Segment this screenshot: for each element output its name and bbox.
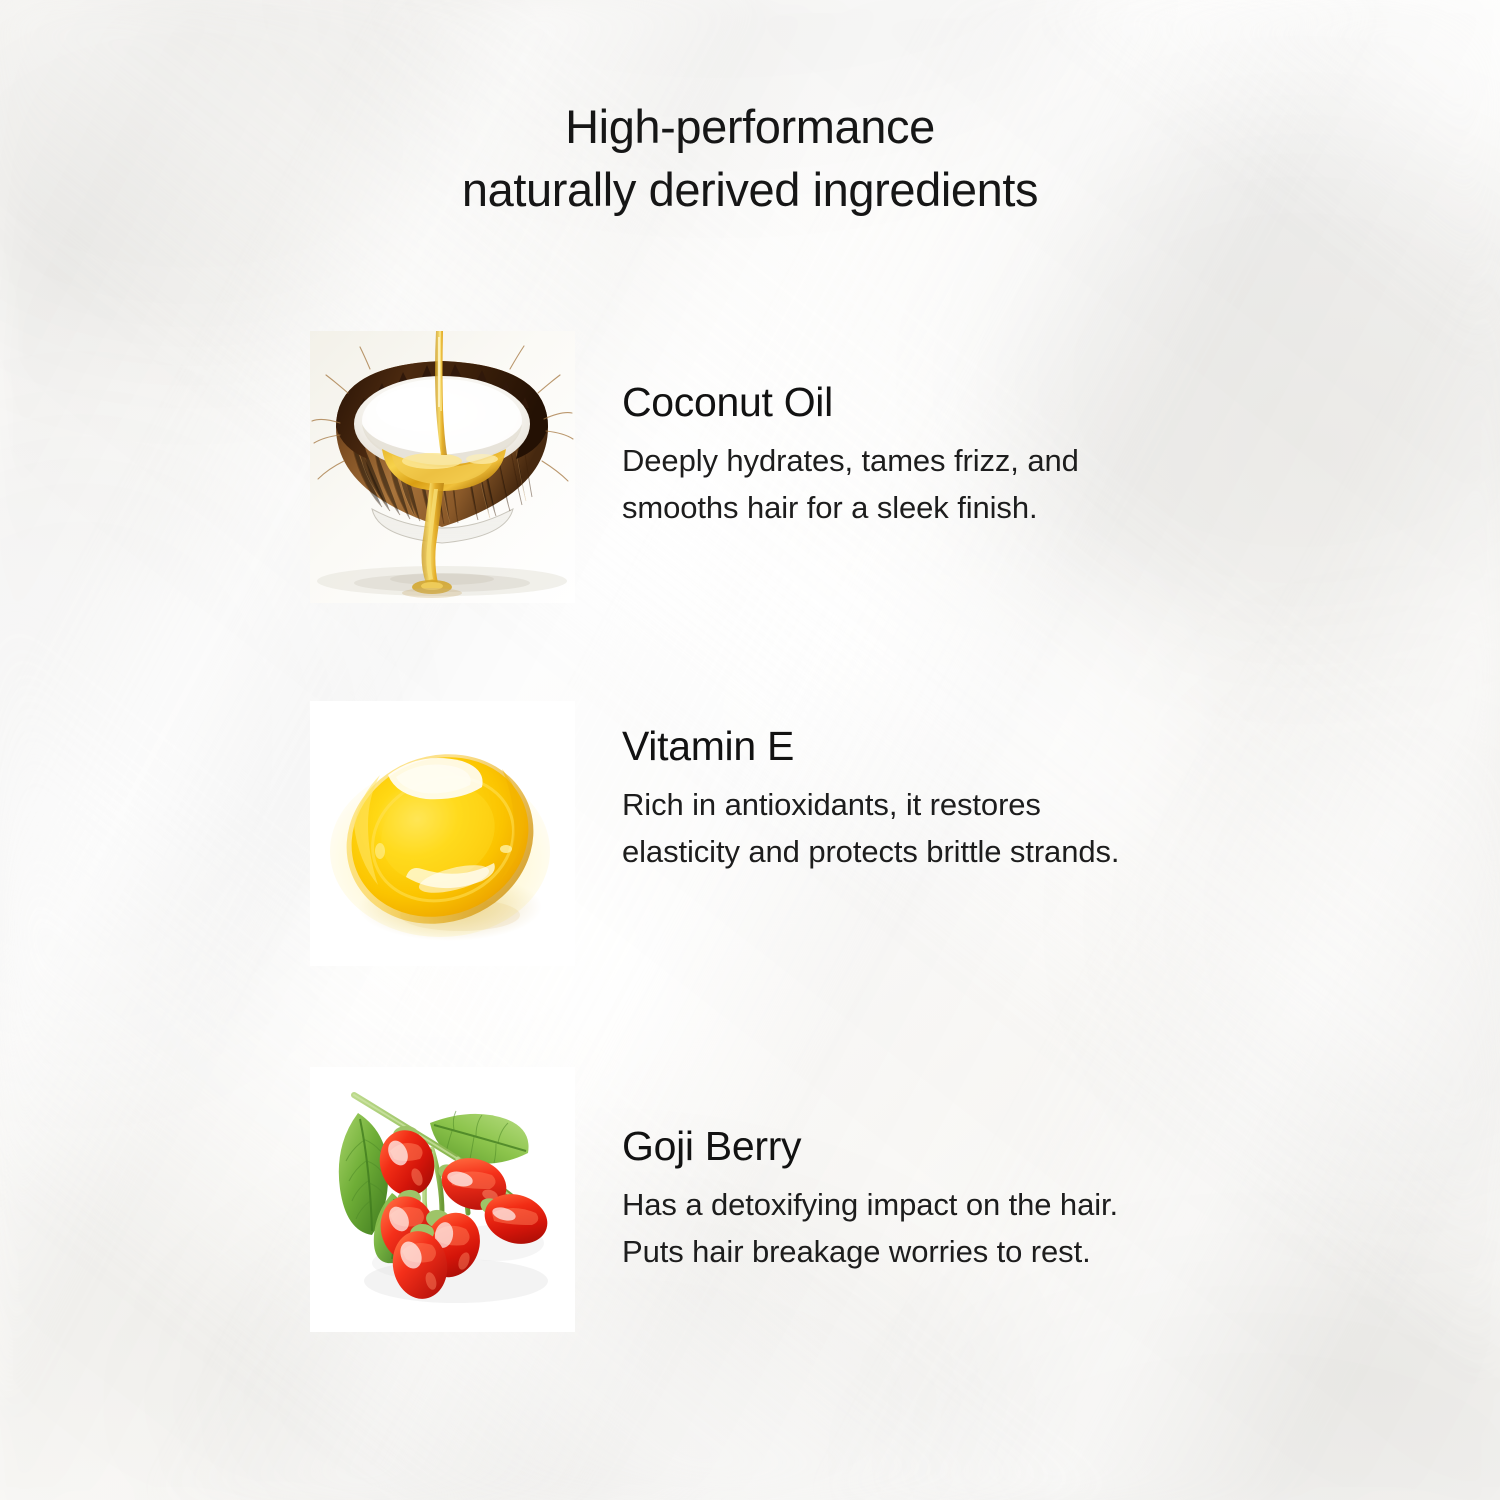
ingredient-description-goji-berry: Has a detoxifying impact on the hair. Pu… (622, 1181, 1262, 1275)
ingredient-description-line-1: Deeply hydrates, tames frizz, and (622, 437, 1242, 484)
ingredient-copy-coconut-oil: Coconut Oil Deeply hydrates, tames frizz… (622, 382, 1242, 531)
ingredient-description-vitamin-e: Rich in antioxidants, it restores elasti… (622, 781, 1262, 875)
ingredient-description-line-1: Rich in antioxidants, it restores (622, 781, 1262, 828)
page-title-line-2: naturally derived ingredients (0, 159, 1500, 222)
coconut-oil-photo (310, 331, 575, 603)
page-title: High-performance naturally derived ingre… (0, 96, 1500, 222)
ingredient-copy-goji-berry: Goji Berry Has a detoxifying impact on t… (622, 1126, 1262, 1275)
ingredient-description-line-2: elasticity and protects brittle strands. (622, 828, 1262, 875)
ingredient-row-vitamin-e (310, 701, 575, 966)
vitamin-e-capsule-photo (310, 701, 575, 966)
ingredient-description-line-1: Has a detoxifying impact on the hair. (622, 1181, 1262, 1228)
ingredient-description-line-2: smooths hair for a sleek finish. (622, 484, 1242, 531)
ingredient-copy-vitamin-e: Vitamin E Rich in antioxidants, it resto… (622, 726, 1262, 875)
ingredient-row-coconut-oil (310, 331, 575, 603)
ingredient-name-coconut-oil: Coconut Oil (622, 382, 1242, 423)
ingredient-description-coconut-oil: Deeply hydrates, tames frizz, and smooth… (622, 437, 1242, 531)
ingredient-description-line-2: Puts hair breakage worries to rest. (622, 1228, 1262, 1275)
ingredient-row-goji-berry (310, 1067, 575, 1332)
ingredients-infographic: High-performance naturally derived ingre… (0, 0, 1500, 1500)
page-title-line-1: High-performance (0, 96, 1500, 159)
ingredient-name-goji-berry: Goji Berry (622, 1126, 1262, 1167)
ingredient-name-vitamin-e: Vitamin E (622, 726, 1262, 767)
goji-berry-photo (310, 1067, 575, 1332)
